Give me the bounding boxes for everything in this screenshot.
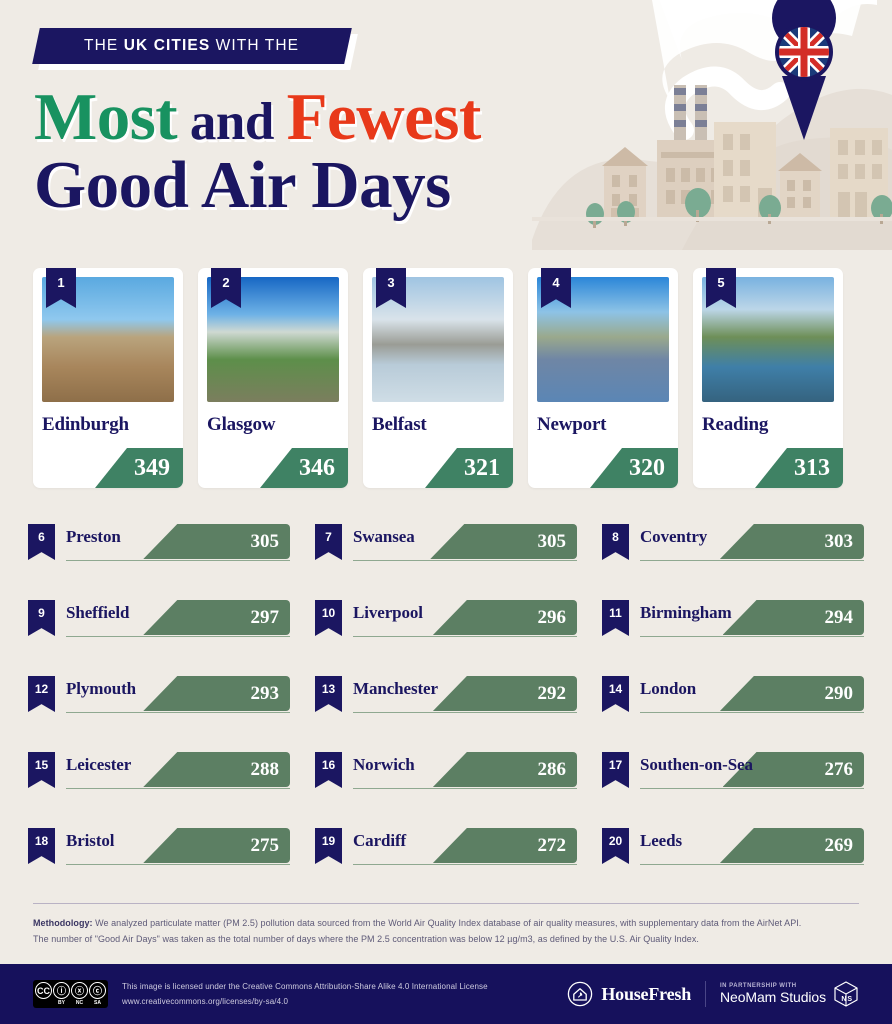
- row-rank-number: 9: [38, 606, 45, 620]
- list-row[interactable]: 28815Leicester: [28, 752, 290, 798]
- row-rank-badge: 14: [602, 676, 629, 712]
- list-row[interactable]: 27617Southen-on-Sea: [602, 752, 864, 798]
- row-value-number: 288: [251, 759, 280, 781]
- cc-mark-label: SA: [94, 1000, 101, 1006]
- row-underline: [640, 636, 864, 637]
- title-line-two: Good Air Days: [34, 152, 620, 218]
- housefresh-brand-name: HouseFresh: [601, 984, 691, 1005]
- license-text-block: This image is licensed under the Creativ…: [122, 979, 488, 1009]
- row-value-bar: 296: [433, 600, 577, 635]
- card-value-bar: 321: [425, 448, 513, 488]
- eyebrow-suffix: WITH THE: [211, 37, 300, 54]
- card-rank-number: 3: [387, 275, 394, 290]
- row-value-bar: 272: [433, 828, 577, 863]
- list-row[interactable]: 27219Cardiff: [315, 828, 577, 874]
- title-word-fewest: Fewest: [287, 80, 481, 154]
- list-row[interactable]: 3057Swansea: [315, 524, 577, 570]
- row-underline: [66, 864, 290, 865]
- row-underline: [353, 636, 577, 637]
- card-city-name: Newport: [537, 414, 669, 436]
- row-rank-number: 16: [322, 758, 335, 772]
- row-underline: [353, 712, 577, 713]
- row-rank-badge: 19: [315, 828, 342, 864]
- row-city-name: Bristol: [66, 831, 114, 851]
- title-word-and: and: [177, 93, 286, 151]
- svg-text:N: N: [841, 996, 846, 1003]
- cc-mark-glyph: CC: [35, 982, 52, 999]
- list-row[interactable]: 29014London: [602, 676, 864, 722]
- city-card[interactable]: 4Newport320: [528, 268, 678, 488]
- list-row[interactable]: 3056Preston: [28, 524, 290, 570]
- footer-bar: CCⓘBYⓧNCⓒSA This image is licensed under…: [0, 964, 892, 1024]
- card-value-number: 320: [629, 455, 665, 482]
- eyebrow-prefix: THE: [84, 37, 124, 54]
- cc-mark-glyph: ⓒ: [89, 982, 106, 999]
- card-city-name: Reading: [702, 414, 834, 436]
- row-rank-badge: 20: [602, 828, 629, 864]
- methodology-text: Methodology: We analyzed particulate mat…: [33, 916, 859, 948]
- list-row[interactable]: 2979Sheffield: [28, 600, 290, 646]
- eyebrow-bold: UK CITIES: [124, 37, 211, 54]
- row-rank-number: 17: [609, 758, 622, 772]
- row-city-name: London: [640, 679, 696, 699]
- row-rank-number: 14: [609, 682, 622, 696]
- row-rank-number: 10: [322, 606, 335, 620]
- eyebrow-banner-fill: THE UK CITIES WITH THE: [32, 28, 352, 64]
- title-word-most: Most: [34, 80, 177, 154]
- row-rank-number: 19: [322, 834, 335, 848]
- row-value-number: 276: [825, 759, 854, 781]
- list-row[interactable]: 29411Birmingham: [602, 600, 864, 646]
- methodology-line-one: We analyzed particulate matter (PM 2.5) …: [93, 918, 802, 928]
- housefresh-brand[interactable]: HouseFresh: [567, 981, 691, 1007]
- row-value-bar: 294: [723, 600, 864, 635]
- row-city-name: Coventry: [640, 527, 707, 547]
- list-row[interactable]: 3038Coventry: [602, 524, 864, 570]
- row-underline: [640, 712, 864, 713]
- row-rank-badge: 17: [602, 752, 629, 788]
- ranked-list: 3056Preston3057Swansea3038Coventry2979Sh…: [28, 524, 864, 874]
- page-title: Most and FewestGood Air Days: [34, 84, 620, 219]
- row-value-bar: 286: [433, 752, 577, 787]
- row-rank-badge: 9: [28, 600, 55, 636]
- card-rank-number: 1: [57, 275, 64, 290]
- cc-mark-label: BY: [58, 1000, 65, 1006]
- header: THE UK CITIES WITH THE Most and FewestGo…: [0, 0, 620, 219]
- card-value-number: 349: [134, 455, 170, 482]
- row-rank-number: 6: [38, 530, 45, 544]
- row-value-bar: 275: [143, 828, 290, 863]
- row-value-bar: 303: [720, 524, 864, 559]
- card-value-number: 346: [299, 455, 335, 482]
- city-card[interactable]: 3Belfast321: [363, 268, 513, 488]
- row-underline: [353, 864, 577, 865]
- row-rank-badge: 16: [315, 752, 342, 788]
- svg-text:S: S: [847, 996, 852, 1003]
- row-rank-badge: 8: [602, 524, 629, 560]
- row-value-bar: 290: [720, 676, 864, 711]
- row-rank-badge: 6: [28, 524, 55, 560]
- row-value-number: 293: [251, 683, 280, 705]
- infographic-page: THE UK CITIES WITH THE Most and FewestGo…: [0, 0, 892, 1024]
- neomam-text-block: IN PARTNERSHIP WITH NeoMam Studios: [720, 983, 826, 1005]
- card-city-name: Glasgow: [207, 414, 339, 436]
- row-city-name: Plymouth: [66, 679, 136, 699]
- list-row[interactable]: 29213Manchester: [315, 676, 577, 722]
- card-value-bar: 320: [590, 448, 678, 488]
- row-value-number: 297: [251, 607, 280, 629]
- cc-mark: ⓧNC: [71, 982, 88, 1006]
- list-row[interactable]: 29610Liverpool: [315, 600, 577, 646]
- row-value-number: 272: [538, 835, 567, 857]
- row-value-bar: 288: [143, 752, 290, 787]
- neomam-brand-name: NeoMam Studios: [720, 989, 826, 1005]
- row-rank-badge: 15: [28, 752, 55, 788]
- row-value-number: 294: [825, 607, 854, 629]
- row-value-bar: 292: [433, 676, 577, 711]
- card-city-name: Belfast: [372, 414, 504, 436]
- row-value-bar: 305: [143, 524, 290, 559]
- row-value-number: 275: [251, 835, 280, 857]
- row-value-bar: 305: [430, 524, 577, 559]
- row-underline: [640, 560, 864, 561]
- city-card[interactable]: 1Edinburgh349: [33, 268, 183, 488]
- license-line-one: This image is licensed under the Creativ…: [122, 979, 488, 994]
- row-underline: [66, 788, 290, 789]
- cc-mark: CC: [35, 982, 52, 1006]
- card-city-name: Edinburgh: [42, 414, 174, 436]
- row-rank-number: 13: [322, 682, 335, 696]
- row-value-number: 292: [538, 683, 567, 705]
- license-url-link[interactable]: www.creativecommons.org/licenses/by-sa/4…: [122, 994, 488, 1009]
- row-value-number: 290: [825, 683, 854, 705]
- row-city-name: Birmingham: [640, 603, 732, 623]
- row-rank-number: 12: [35, 682, 48, 696]
- methodology-label: Methodology:: [33, 918, 93, 928]
- row-rank-number: 8: [612, 530, 619, 544]
- methodology-section: Methodology: We analyzed particulate mat…: [33, 903, 859, 948]
- row-city-name: Preston: [66, 527, 121, 547]
- card-value-number: 313: [794, 455, 830, 482]
- row-city-name: Swansea: [353, 527, 415, 547]
- methodology-divider: [33, 903, 859, 904]
- row-rank-number: 11: [609, 606, 622, 620]
- row-rank-badge: 7: [315, 524, 342, 560]
- row-underline: [66, 636, 290, 637]
- row-city-name: Norwich: [353, 755, 415, 775]
- row-rank-badge: 11: [602, 600, 629, 636]
- row-city-name: Southen-on-Sea: [640, 755, 753, 775]
- list-row[interactable]: 27518Bristol: [28, 828, 290, 874]
- row-city-name: Leicester: [66, 755, 131, 775]
- methodology-line-two: The number of "Good Air Days" was taken …: [33, 934, 699, 944]
- cc-mark-glyph: ⓧ: [71, 982, 88, 999]
- card-value-bar: 313: [755, 448, 843, 488]
- cc-mark-glyph: ⓘ: [53, 982, 70, 999]
- row-rank-number: 15: [35, 758, 48, 772]
- row-rank-number: 20: [609, 834, 622, 848]
- row-city-name: Cardiff: [353, 831, 406, 851]
- row-value-number: 286: [538, 759, 567, 781]
- creative-commons-badge-icon[interactable]: CCⓘBYⓧNCⓒSA: [33, 980, 108, 1008]
- card-value-bar: 349: [95, 448, 183, 488]
- card-rank-number: 2: [222, 275, 229, 290]
- row-city-name: Manchester: [353, 679, 438, 699]
- row-underline: [640, 788, 864, 789]
- neomam-cube-logo-icon: N S: [833, 980, 859, 1008]
- row-underline: [640, 864, 864, 865]
- row-rank-badge: 10: [315, 600, 342, 636]
- row-value-number: 296: [538, 607, 567, 629]
- row-city-name: Leeds: [640, 831, 682, 851]
- list-row[interactable]: 29312Plymouth: [28, 676, 290, 722]
- city-card[interactable]: 2Glasgow346: [198, 268, 348, 488]
- row-underline: [66, 560, 290, 561]
- row-rank-badge: 12: [28, 676, 55, 712]
- top-five-cards: 1Edinburgh3492Glasgow3463Belfast3214Newp…: [33, 268, 859, 488]
- row-value-bar: 293: [143, 676, 290, 711]
- card-value-number: 321: [464, 455, 500, 482]
- row-rank-badge: 13: [315, 676, 342, 712]
- row-value-bar: 269: [720, 828, 864, 863]
- list-row[interactable]: 28616Norwich: [315, 752, 577, 798]
- city-card[interactable]: 5Reading313: [693, 268, 843, 488]
- row-rank-number: 18: [35, 834, 48, 848]
- row-value-number: 303: [825, 531, 854, 553]
- card-value-bar: 346: [260, 448, 348, 488]
- cc-mark-label: NC: [76, 1000, 83, 1006]
- row-rank-badge: 18: [28, 828, 55, 864]
- row-rank-number: 7: [325, 530, 332, 544]
- row-value-number: 305: [251, 531, 280, 553]
- row-underline: [66, 712, 290, 713]
- branding-block: HouseFresh IN PARTNERSHIP WITH NeoMam St…: [567, 980, 859, 1008]
- row-underline: [353, 788, 577, 789]
- row-city-name: Liverpool: [353, 603, 423, 623]
- eyebrow-banner: THE UK CITIES WITH THE: [36, 28, 348, 66]
- card-rank-number: 5: [717, 275, 724, 290]
- row-underline: [353, 560, 577, 561]
- cc-mark: ⓘBY: [53, 982, 70, 1006]
- eyebrow-text: THE UK CITIES WITH THE: [84, 37, 299, 55]
- cc-mark: ⓒSA: [89, 982, 106, 1006]
- card-rank-number: 4: [552, 275, 559, 290]
- row-value-number: 269: [825, 835, 854, 857]
- housefresh-logo-icon: [567, 981, 593, 1007]
- neomam-brand[interactable]: IN PARTNERSHIP WITH NeoMam Studios N S: [720, 980, 859, 1008]
- row-value-bar: 297: [143, 600, 290, 635]
- list-row[interactable]: 26920Leeds: [602, 828, 864, 874]
- row-value-number: 305: [538, 531, 567, 553]
- row-city-name: Sheffield: [66, 603, 129, 623]
- brand-divider: [705, 981, 706, 1007]
